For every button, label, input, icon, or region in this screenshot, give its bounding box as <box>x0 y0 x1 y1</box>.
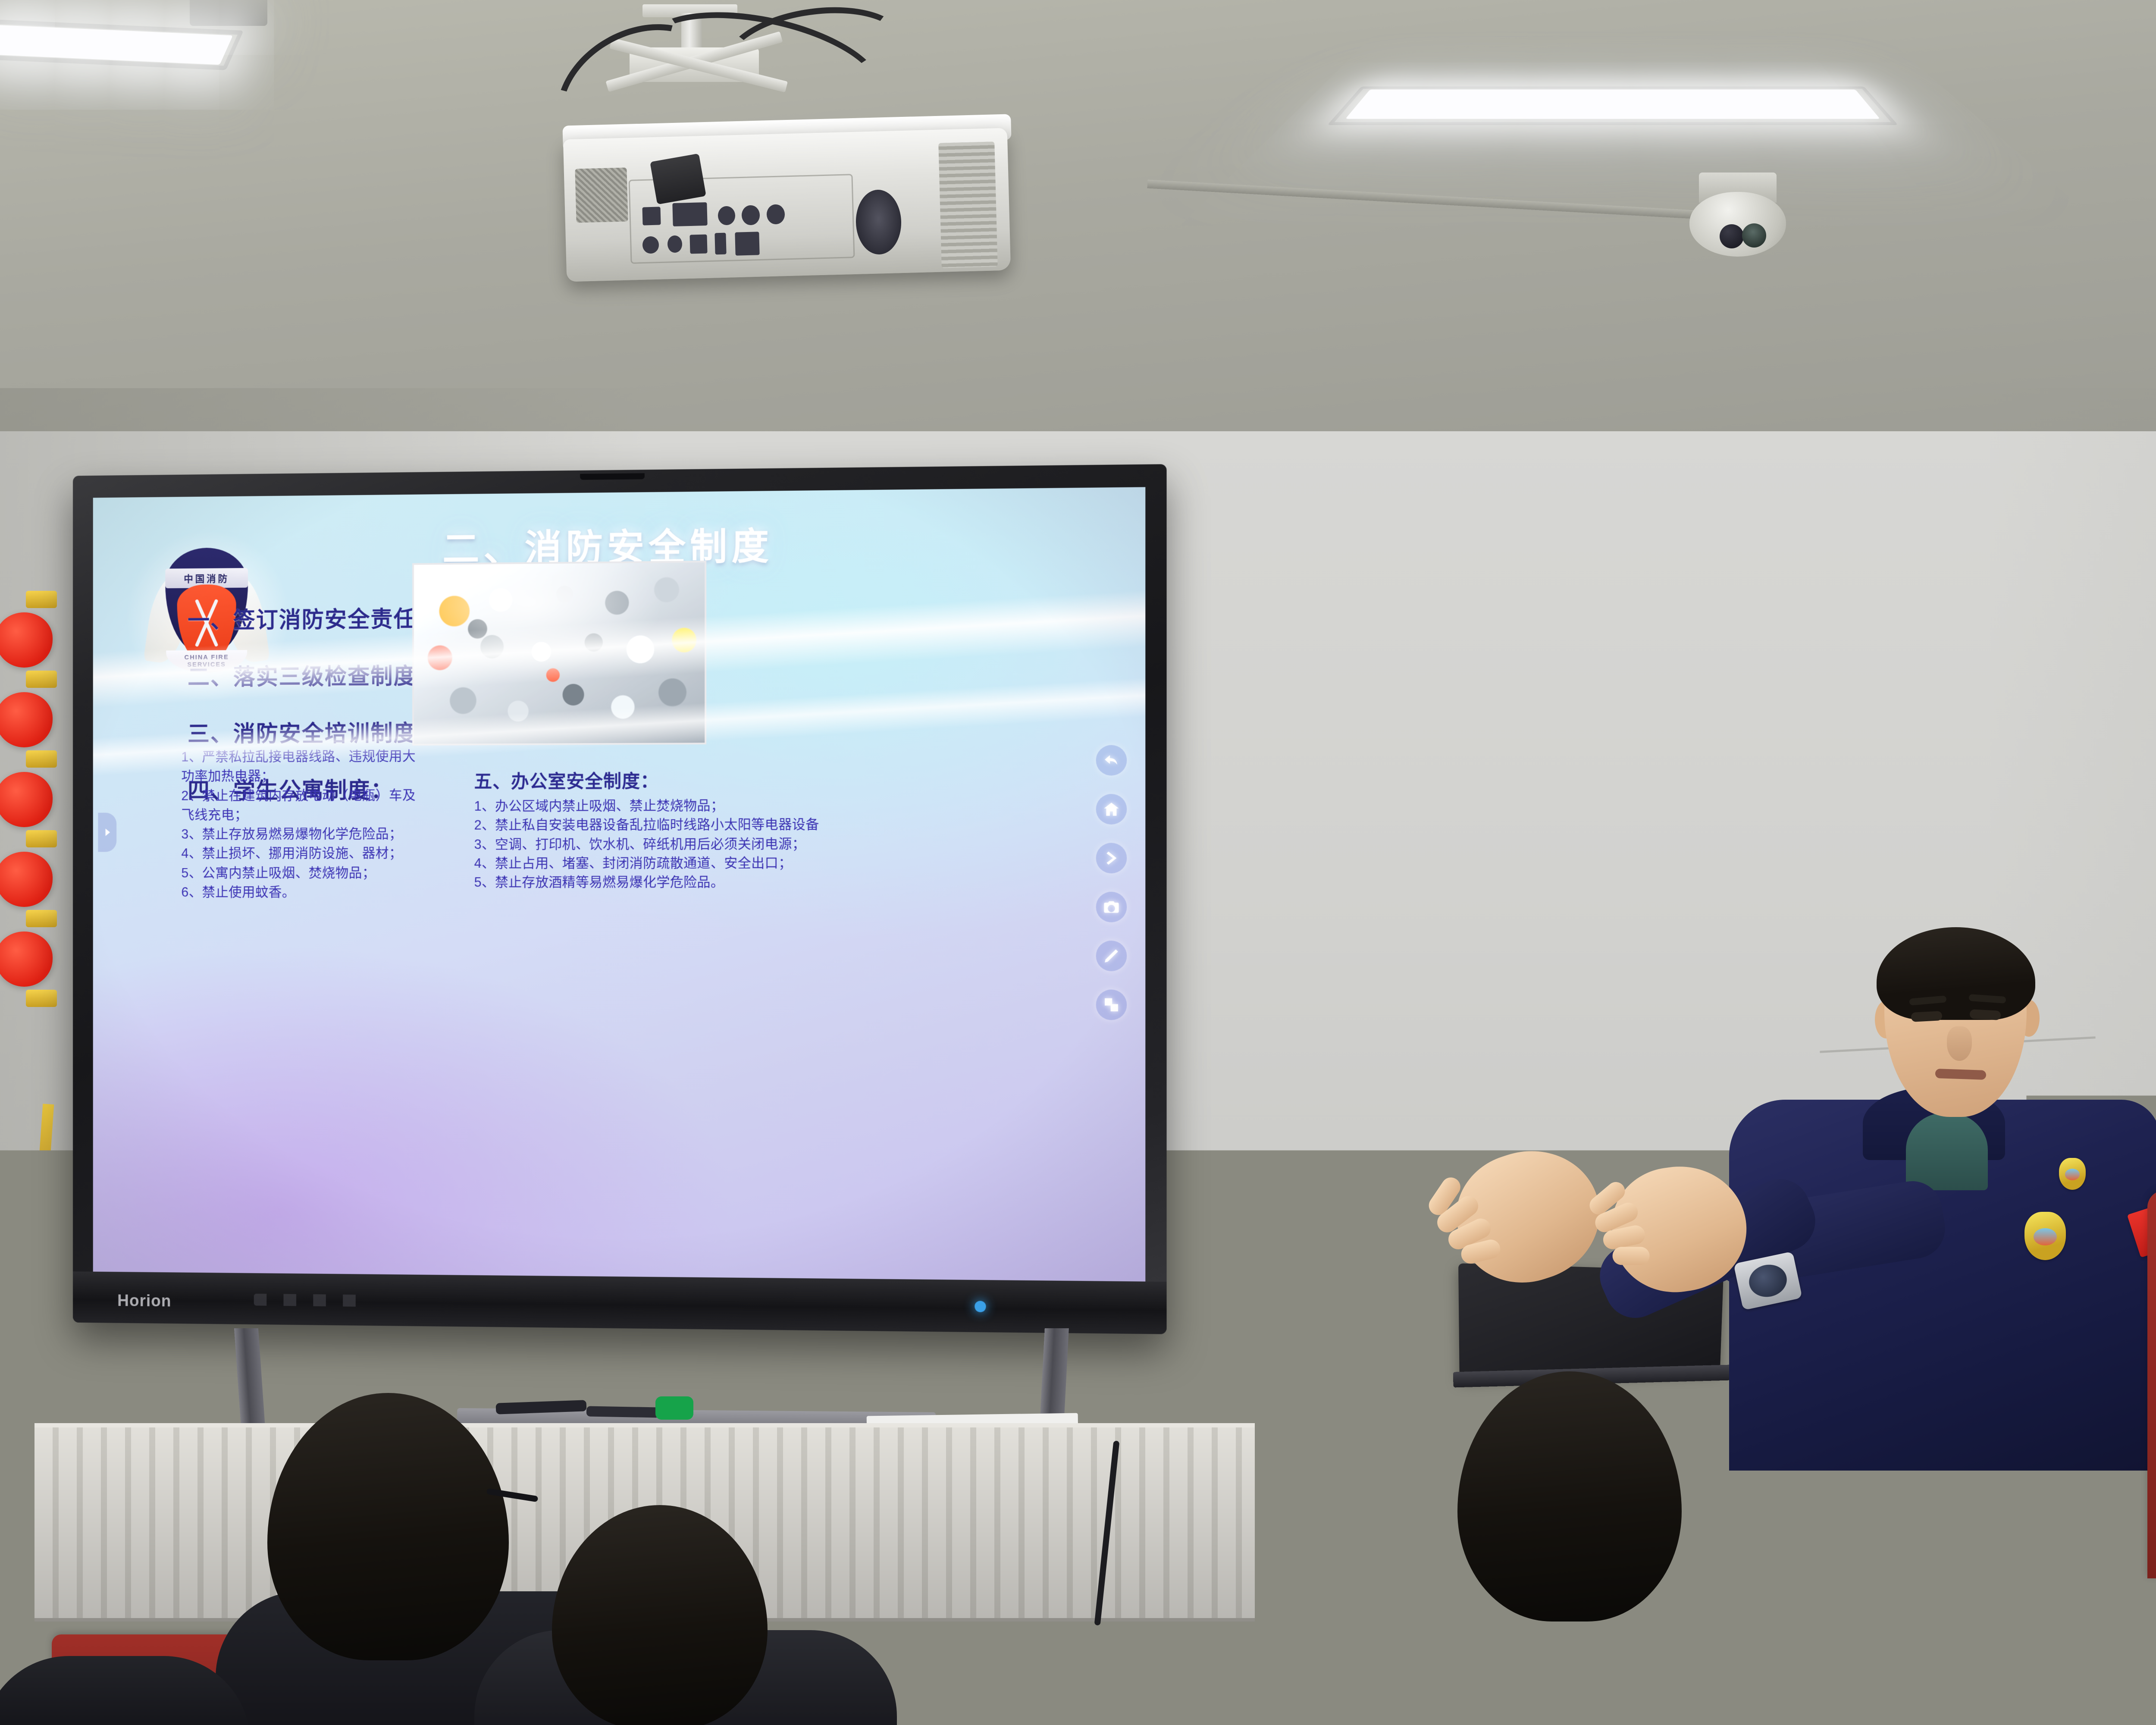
office-rules-block: 五、办公室安全制度： 1、办公区域内禁止吸烟、禁止焚烧物品； 2、禁止私自安装电… <box>474 766 832 893</box>
projector-port-vga <box>672 202 707 226</box>
lantern-4 <box>0 852 53 907</box>
projector-port-1 <box>642 207 661 225</box>
office-rule-3: 3、空调、打印机、饮水机、碎纸机用后必须关闭电源； <box>474 835 832 853</box>
camera-icon <box>1103 898 1120 916</box>
lantern-gold-1 <box>26 591 57 608</box>
projector-cable-connector <box>650 154 706 204</box>
ceiling-vent <box>190 0 267 26</box>
display-hardware-keys[interactable] <box>254 1294 364 1307</box>
projector-speaker-grille <box>575 167 628 223</box>
projector-port-hdmi <box>735 232 759 255</box>
dorm-rule-line-3: 2、禁止在建筑内存放电动（电瓶）车及 <box>181 787 461 805</box>
lecture-room: 二、消防安全制度 中国消防 CHINA FIRE SERVICES <box>0 0 2156 1725</box>
dorm-rule-line-8: 6、禁止使用蚊香。 <box>181 884 461 901</box>
display-sensor-bar <box>580 473 645 480</box>
camera-dome <box>1689 192 1786 257</box>
dorm-rule-line-4: 飞线充电； <box>181 806 461 824</box>
dorm-rule-line-1: 1、严禁私拉乱接电器线路、违规使用大 <box>181 747 461 765</box>
office-rule-1: 1、办公区域内禁止吸烟、禁止焚烧物品； <box>474 797 832 815</box>
presenter-inner-shirt <box>1906 1113 1988 1190</box>
display-brand-logo: Horion <box>117 1292 171 1311</box>
display-screen[interactable]: 二、消防安全制度 中国消防 CHINA FIRE SERVICES <box>93 487 1146 1281</box>
dorm-rule-line-7: 5、公寓内禁止吸烟、焚烧物品； <box>181 864 461 881</box>
dorm-rules-list: 1、严禁私拉乱接电器线路、违规使用大 功率加热电器； 2、禁止在建筑内存放电动（… <box>181 747 461 903</box>
display-power-led <box>975 1301 986 1312</box>
lantern-5 <box>0 931 53 987</box>
presenter-eye-right <box>1969 1009 2001 1020</box>
camera-lens-primary <box>1720 224 1744 248</box>
floating-toolbar[interactable] <box>1096 745 1127 1020</box>
lantern-2 <box>0 692 53 747</box>
badge-collar-inner <box>2065 1169 2080 1180</box>
multi-window-icon <box>1103 996 1120 1014</box>
presenter-mouth <box>1935 1069 1987 1080</box>
pen-icon <box>1103 947 1120 965</box>
toolbar-back-button[interactable] <box>1096 745 1127 775</box>
presenter-chair <box>2147 1190 2156 1578</box>
eraser[interactable] <box>655 1396 693 1420</box>
sidebar-expand-tab[interactable] <box>98 813 116 852</box>
interactive-flat-panel-display[interactable]: 二、消防安全制度 中国消防 CHINA FIRE SERVICES <box>73 464 1167 1334</box>
lantern-gold-4 <box>26 830 57 847</box>
dorm-rule-line-6: 4、禁止损坏、挪用消防设施、器材； <box>181 845 461 862</box>
projector-port-4 <box>689 234 707 254</box>
office-rule-2: 2、禁止私自安装电器设备乱拉临时线路小太阳等电器设备 <box>474 816 832 834</box>
camera-lens-secondary <box>1742 223 1766 248</box>
slide-photo-confiscated-appliances <box>412 561 706 746</box>
lantern-gold-5 <box>26 910 57 927</box>
lantern-3 <box>0 772 53 827</box>
toolbar-annotate-button[interactable] <box>1096 941 1127 971</box>
toolbar-home-button[interactable] <box>1096 794 1127 825</box>
toolbar-screenshot-button[interactable] <box>1096 892 1127 922</box>
stylus-pen-2[interactable] <box>586 1406 660 1418</box>
toolbar-split-screen-button[interactable] <box>1096 989 1127 1020</box>
photo-highlight <box>414 562 705 744</box>
office-rule-4: 4、禁止占用、堵塞、封闭消防疏散通道、安全出口； <box>474 854 832 872</box>
dorm-rule-line-5: 3、禁止存放易燃易爆物化学危险品； <box>181 825 461 843</box>
chevron-right-icon <box>102 827 113 838</box>
office-rule-5: 5、禁止存放酒精等易燃易爆化学危险品。 <box>474 874 832 891</box>
ceiling-projector <box>500 4 1069 345</box>
ceiling-light-right <box>1345 90 1880 119</box>
lantern-gold-6 <box>26 990 57 1007</box>
uniform-badge-chest <box>2024 1212 2066 1260</box>
home-icon <box>1103 800 1120 818</box>
presenter-fire-officer <box>1587 884 2156 1466</box>
projector-port-5 <box>714 233 726 255</box>
presenter-hair <box>1877 927 2035 1020</box>
security-camera-icon <box>1682 172 1794 259</box>
watch-face <box>1746 1261 1789 1301</box>
lantern-1 <box>0 612 53 668</box>
office-rules-heading: 五、办公室安全制度： <box>474 766 832 793</box>
uniform-badge-collar <box>2059 1158 2086 1190</box>
back-arrow-icon <box>1103 752 1120 769</box>
dorm-rule-line-2: 功率加热电器； <box>181 767 461 785</box>
chevron-right-icon <box>1103 850 1120 867</box>
lantern-gold-3 <box>26 750 57 768</box>
toolbar-forward-button[interactable] <box>1096 843 1127 873</box>
presenter-nose <box>1947 1026 1972 1061</box>
badge-chest-inner <box>2034 1228 2057 1245</box>
presenter-eye-left <box>1911 1011 1942 1022</box>
hand-right-finger-4 <box>1613 1247 1650 1265</box>
lantern-gold-2 <box>26 671 57 688</box>
projector-vent <box>938 141 998 268</box>
